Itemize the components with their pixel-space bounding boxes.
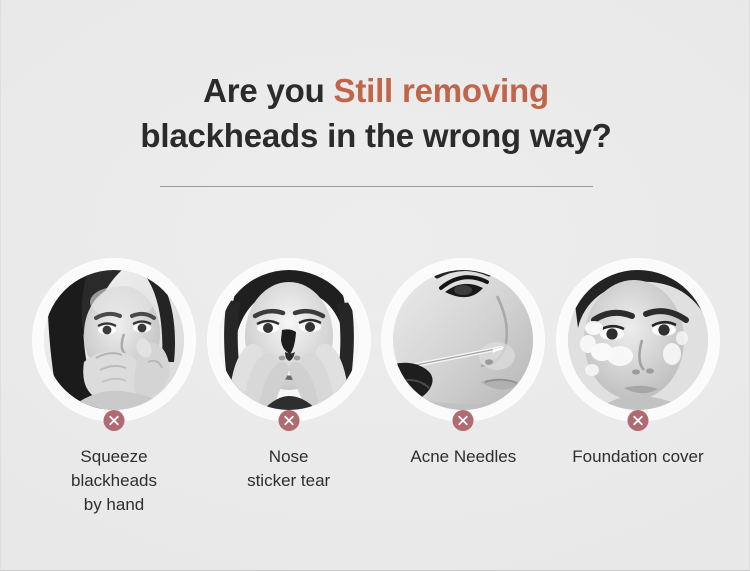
method-caption: Foundation cover <box>572 445 703 469</box>
method-card: Nose sticker tear <box>204 259 374 493</box>
method-card: Foundation cover <box>553 259 723 469</box>
headline-line-1: Are you Still removing <box>1 68 750 113</box>
method-caption: Nose sticker tear <box>247 445 330 493</box>
method-caption: Squeeze blackheads by hand <box>71 445 157 517</box>
infographic-page: Are you Still removing blackheads in the… <box>0 0 750 571</box>
method-card: Squeeze blackheads by hand <box>29 259 199 517</box>
photo-wrapper <box>33 259 195 421</box>
page-title: Are you Still removing blackheads in the… <box>1 68 750 158</box>
x-circle-icon <box>278 410 299 431</box>
headline-plain-text: Are you <box>203 72 333 109</box>
photo-acne-needles <box>393 270 533 410</box>
photo-wrapper <box>557 259 719 421</box>
divider <box>160 186 593 187</box>
x-circle-icon <box>627 410 648 431</box>
photo-squeeze-blackheads <box>44 270 184 410</box>
x-circle-icon <box>453 410 474 431</box>
method-card-row: Squeeze blackheads by hand <box>29 259 723 517</box>
headline-accent-text: Still removing <box>334 72 549 109</box>
photo-wrapper <box>382 259 544 421</box>
headline-line-2: blackheads in the wrong way? <box>1 113 750 158</box>
photo-wrapper <box>208 259 370 421</box>
x-circle-icon <box>104 410 125 431</box>
method-caption: Acne Needles <box>410 445 516 469</box>
photo-foundation-cover <box>568 270 708 410</box>
method-card: Acne Needles <box>378 259 548 469</box>
photo-nose-sticker-tear <box>219 270 359 410</box>
